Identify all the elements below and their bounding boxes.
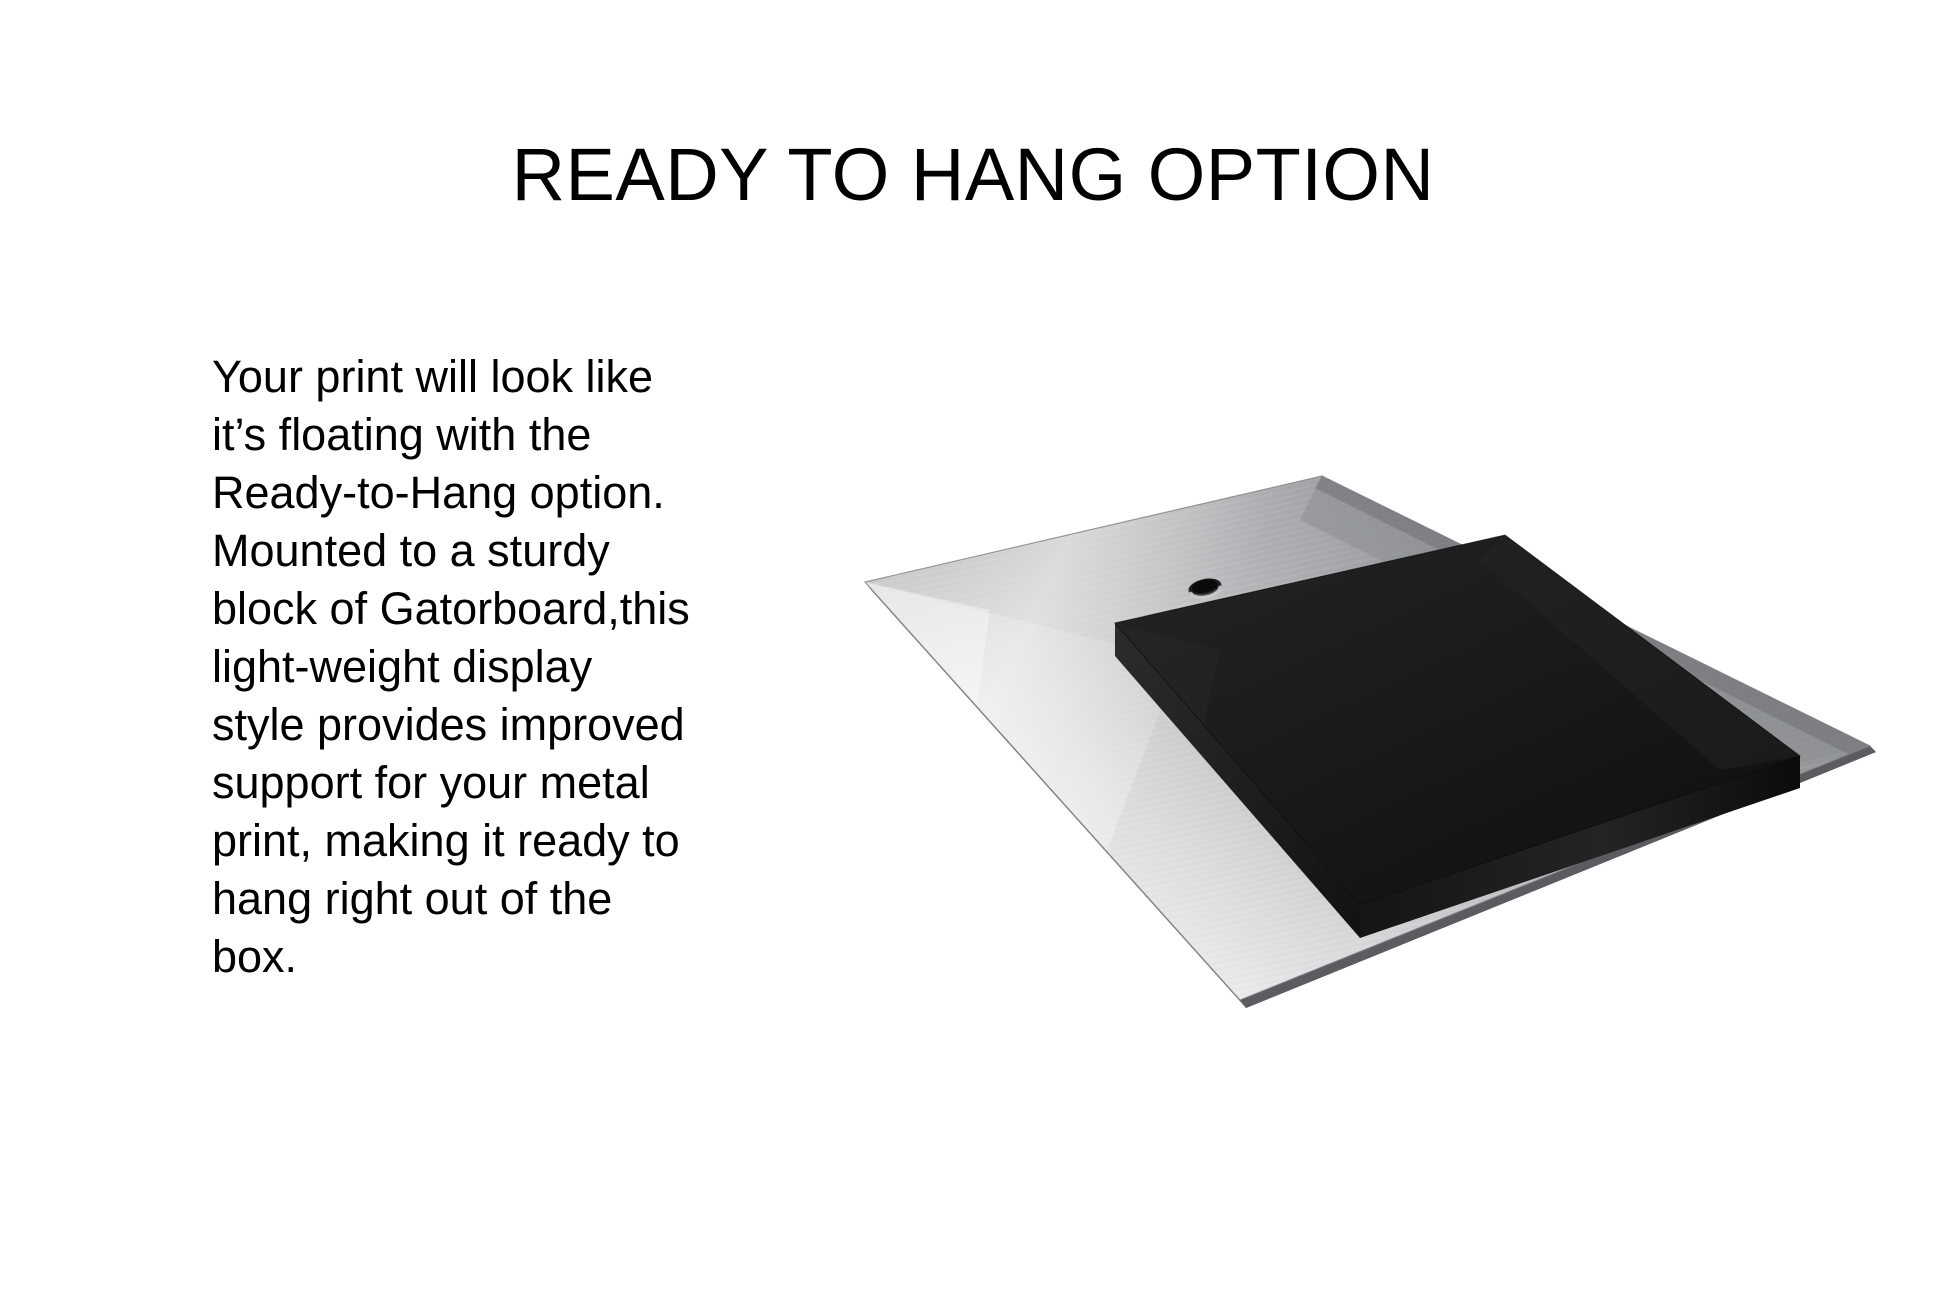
slide-canvas: READY TO HANG OPTION Your print will loo… [0,0,1946,1297]
page-title: READY TO HANG OPTION [0,138,1946,212]
ready-to-hang-illustration [660,360,1946,1060]
product-figure [660,360,1946,1060]
